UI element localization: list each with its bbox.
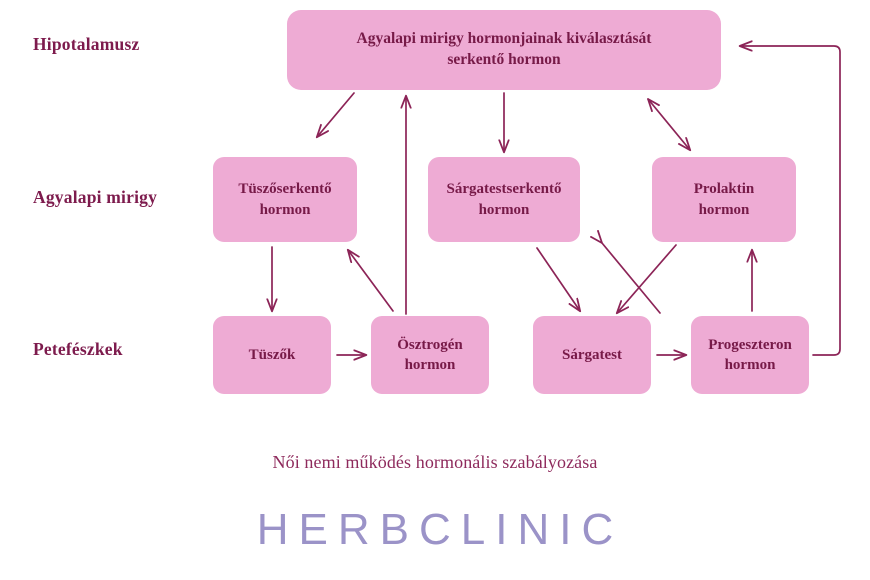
diagram-canvas: Hipotalamusz Agyalapi mirigy Petefészkek… [0, 0, 870, 580]
node-fsh-line1: Tüszőserkentő [238, 181, 331, 197]
node-lh[interactable]: Sárgatestserkentő hormon [428, 157, 580, 242]
edge-prolactin-to-corpus-luteum [617, 245, 676, 313]
row-label-petefeszkek: Petefészkek [33, 339, 123, 360]
brand-logo-text: HERBCLINIC [247, 508, 624, 552]
node-releasing-hormone-line2: serkentő hormon [447, 51, 560, 68]
node-estrogen-line2: hormon [405, 357, 456, 373]
node-fsh-line2: hormon [260, 202, 311, 218]
edge-lh-to-corpus-luteum [537, 248, 580, 311]
node-lh-line1: Sárgatestserkentő [447, 181, 562, 197]
row-label-hipotalamusz: Hipotalamusz [33, 34, 139, 55]
node-prolactin-line1: Prolaktin [694, 181, 755, 197]
node-progesterone-line1: Progeszteron [708, 337, 792, 353]
node-releasing-hormone-line1: Agyalapi mirigy hormonjainak kiválasztás… [357, 30, 652, 47]
node-lh-line2: hormon [479, 202, 530, 218]
node-releasing-hormone[interactable]: Agyalapi mirigy hormonjainak kiválasztás… [287, 10, 721, 90]
node-prolactin[interactable]: Prolaktin hormon [652, 157, 796, 242]
node-follicles-line1: Tüszők [249, 347, 296, 363]
node-fsh[interactable]: Tüszőserkentő hormon [213, 157, 357, 242]
brand-logo-tagline [0, 562, 870, 572]
node-estrogen-line1: Ösztrogén [397, 337, 463, 353]
node-corpus-luteum[interactable]: Sárgatest [533, 316, 651, 394]
node-estrogen[interactable]: Ösztrogén hormon [371, 316, 489, 394]
edge-corpus-luteum-to-prolactin [602, 243, 660, 313]
edge-releasing-to-fsh [317, 93, 354, 137]
node-follicles[interactable]: Tüszők [213, 316, 331, 394]
node-prolactin-line2: hormon [699, 202, 750, 218]
row-label-agyalapi-mirigy: Agyalapi mirigy [33, 187, 157, 208]
edge-releasing-to-prolactin [648, 99, 690, 150]
diagram-caption: Női nemi működés hormonális szabályozása [0, 452, 870, 473]
node-progesterone-line2: hormon [725, 357, 776, 373]
node-corpus-luteum-line1: Sárgatest [562, 347, 622, 363]
brand-logo: HERBCLINIC [0, 508, 870, 572]
edge-estrogen-to-lh [348, 250, 393, 311]
node-progesterone[interactable]: Progeszteron hormon [691, 316, 809, 394]
